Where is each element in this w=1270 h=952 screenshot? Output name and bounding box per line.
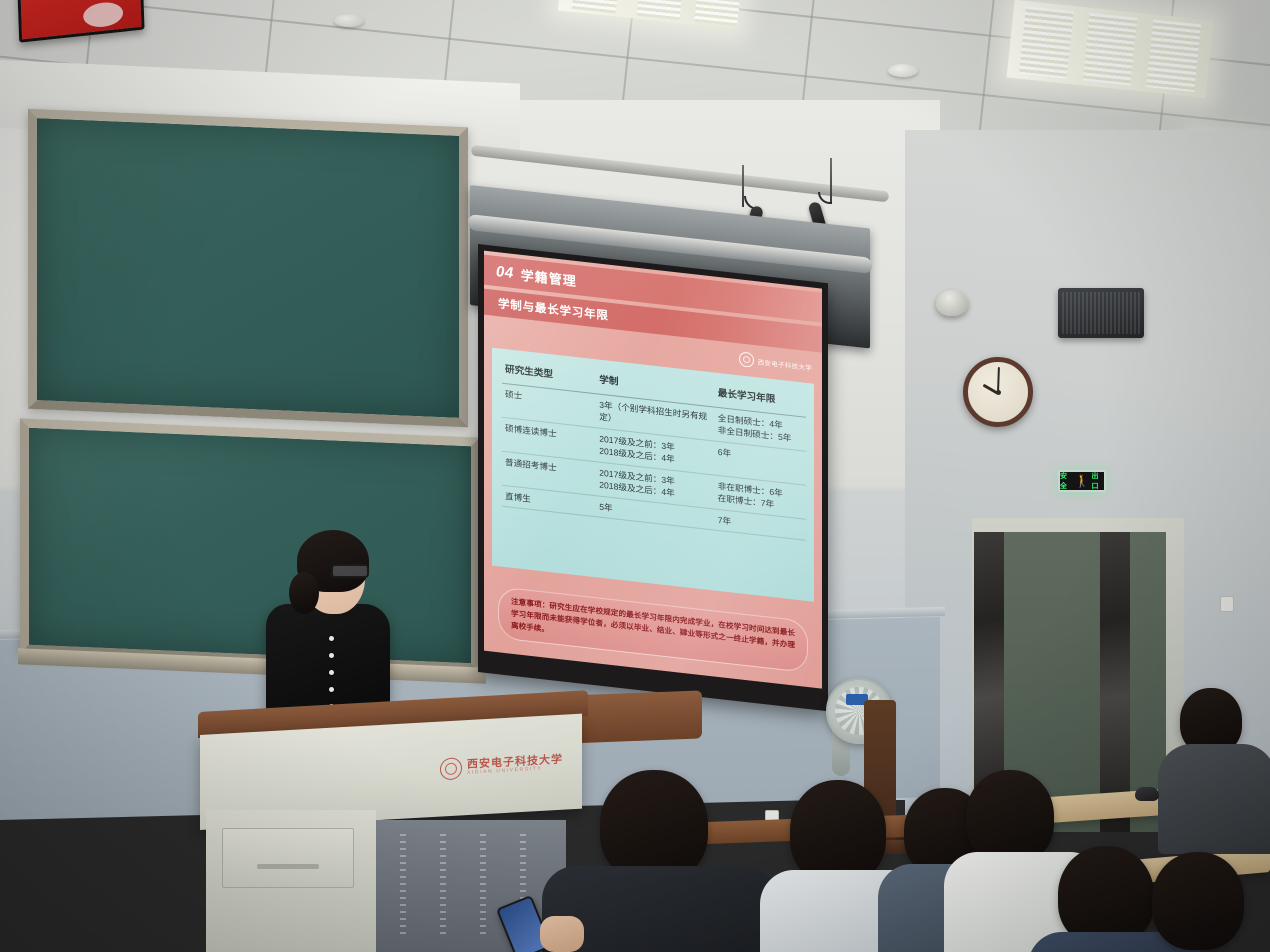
- presenter-hair: [297, 530, 369, 592]
- security-camera-icon: [936, 290, 968, 316]
- slide-warning-note: 注意事项：研究生应在学校规定的最长学习年限内完成学业，在校学习时间达到最长学习年…: [498, 586, 808, 673]
- smoke-detector-icon: [888, 64, 918, 77]
- wall-speaker: [1058, 288, 1144, 338]
- cell-max-line1: 6年: [718, 446, 803, 468]
- wall-clock: [963, 357, 1033, 427]
- lecture-hall-scene: 04 学籍管理 学制与最长学习年限 西安电子科技大学 研究生类型 学制 最长学习…: [0, 0, 1270, 952]
- student-head: [966, 770, 1054, 864]
- presentation-slide: 04 学籍管理 学制与最长学习年限 西安电子科技大学 研究生类型 学制 最长学习…: [484, 251, 822, 689]
- study-duration-table: 研究生类型 学制 最长学习年限 硕士 3年（个别学科招生时另有规定） 全日制硕士…: [502, 359, 806, 541]
- slide-logo-text: 西安电子科技大学: [758, 356, 812, 372]
- projection-screen: 04 学籍管理 学制与最长学习年限 西安电子科技大学 研究生类型 学制 最长学习…: [478, 244, 828, 711]
- clock-center-pin: [996, 390, 1001, 395]
- student-head: [1152, 852, 1244, 950]
- student-head: [790, 780, 886, 884]
- running-person-icon: 🚶: [1075, 475, 1090, 487]
- slide-note-text: 注意事项：研究生应在学校规定的最长学习年限内完成学业，在校学习时间达到最长学习年…: [511, 595, 795, 663]
- chalkboard-upper: [28, 109, 468, 427]
- wall-socket: [1220, 596, 1234, 612]
- chalkboard-lower: [20, 418, 480, 672]
- emergency-exit-sign: 安全 🚶 出口: [1058, 470, 1106, 492]
- slide-subtitle: 学制与最长学习年限: [498, 295, 609, 323]
- exit-label-left: 安全: [1060, 471, 1073, 491]
- slide-section-number: 04: [496, 263, 514, 282]
- university-seal-icon: [739, 351, 754, 368]
- door-marble-trim: [1100, 532, 1130, 832]
- exit-label-right: 出口: [1091, 471, 1104, 491]
- podium-drawer[interactable]: [222, 828, 354, 888]
- microphone-pole: [742, 165, 744, 207]
- university-seal-icon: [440, 757, 462, 780]
- slide-university-logo: 西安电子科技大学: [739, 351, 812, 374]
- slide-section-title: 学籍管理: [521, 264, 577, 289]
- smoke-detector-icon: [334, 14, 364, 27]
- computer-mouse[interactable]: [1135, 787, 1159, 801]
- student-torso: [1158, 744, 1270, 854]
- student-hand: [540, 916, 584, 952]
- student-head: [1058, 846, 1154, 946]
- slide-content-area: 研究生类型 学制 最长学习年限 硕士 3年（个别学科招生时另有规定） 全日制硕士…: [492, 348, 814, 602]
- presenter-glasses-icon: [331, 564, 369, 578]
